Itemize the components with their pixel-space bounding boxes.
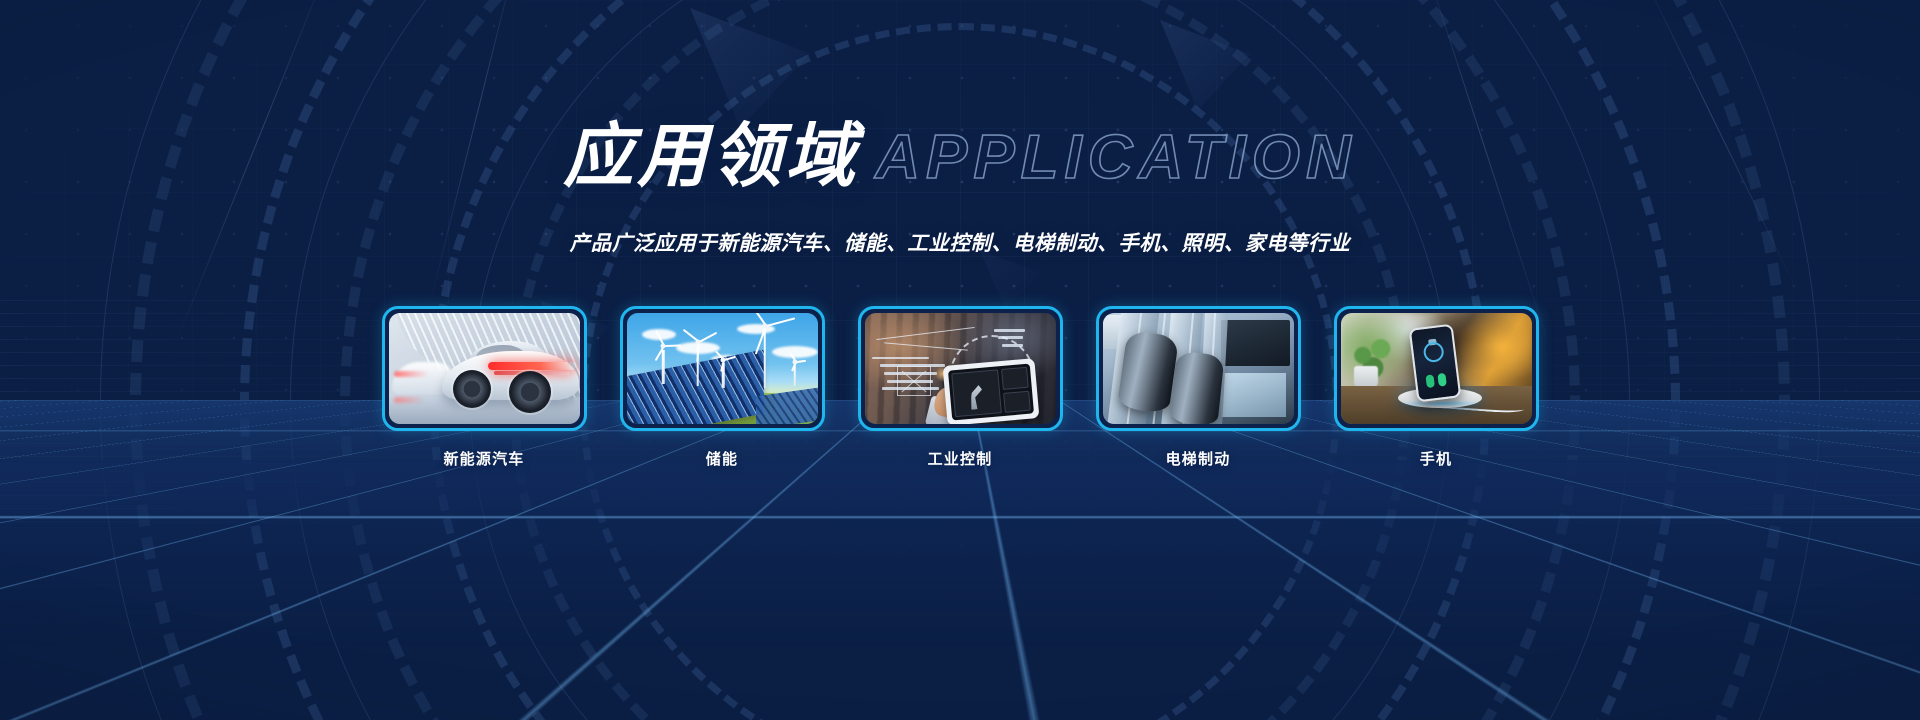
card-label: 手机 (1334, 448, 1539, 469)
card-frame[interactable] (1096, 306, 1301, 431)
application-card-industrial-control[interactable]: 工业控制 (858, 306, 1063, 469)
application-card-elevator-brake[interactable]: 电梯制动 (1096, 306, 1301, 469)
card-frame[interactable] (1334, 306, 1539, 431)
page-title-cn: 应用领域 (563, 121, 859, 191)
card-label: 电梯制动 (1096, 448, 1301, 469)
ev-sports-car-photo (389, 313, 580, 424)
application-card-ev[interactable]: 新能源汽车 (382, 306, 587, 469)
page-title-en: APPLICATION (875, 127, 1357, 189)
card-frame[interactable] (382, 306, 587, 431)
card-label: 工业控制 (858, 448, 1063, 469)
solar-panels-wind-turbines-photo (627, 313, 818, 424)
card-label: 新能源汽车 (382, 448, 587, 469)
application-card-energy-storage[interactable]: 储能 (620, 306, 825, 469)
application-card-mobile-phone[interactable]: 手机 (1334, 306, 1539, 469)
industrial-control-tablet-photo (865, 313, 1056, 424)
card-frame[interactable] (858, 306, 1063, 431)
card-frame[interactable] (620, 306, 825, 431)
banner-heading: 应用领域 APPLICATION (0, 121, 1920, 191)
glass-elevator-shafts-photo (1103, 313, 1294, 424)
application-card-list: 新能源汽车 (0, 306, 1920, 469)
card-label: 储能 (620, 448, 825, 469)
smartphone-wireless-charger-photo (1341, 313, 1532, 424)
application-banner: 应用领域 APPLICATION 产品广泛应用于新能源汽车、储能、工业控制、电梯… (0, 0, 1920, 720)
banner-subtitle: 产品广泛应用于新能源汽车、储能、工业控制、电梯制动、手机、照明、家电等行业 (0, 226, 1920, 256)
